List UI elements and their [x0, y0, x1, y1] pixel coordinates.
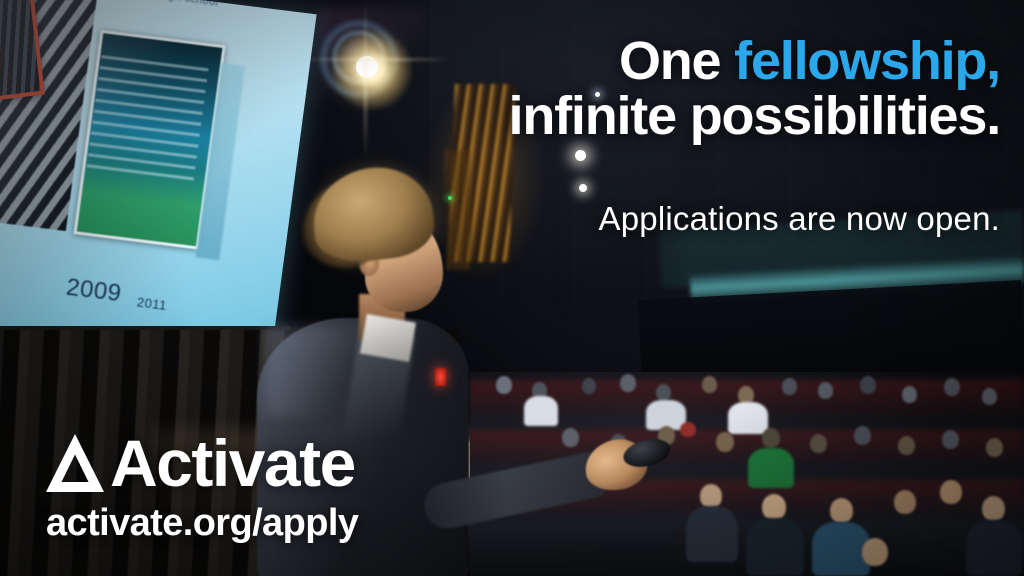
balcony-underside	[638, 280, 1024, 410]
audience	[470, 372, 1024, 576]
apply-url[interactable]: activate.org/apply	[46, 502, 358, 545]
screen-sheen	[0, 0, 317, 361]
activate-logo[interactable]: Activate	[44, 432, 355, 494]
headline-accent-text: fellowship,	[734, 31, 1000, 91]
stage-front-shadow	[297, 495, 722, 576]
lens-flare-streak	[316, 8, 426, 128]
stage-floor	[365, 428, 805, 576]
slide-photo-solar-panel-inset	[0, 0, 45, 113]
speaker-ear	[359, 250, 379, 276]
stage-floor-lip	[367, 470, 810, 576]
curtain-header	[0, 326, 290, 356]
lens-flare-ray-vertical	[364, 0, 367, 160]
promo-banner: since high school 2005 2009 2011	[0, 0, 1024, 576]
slide-surface	[0, 0, 317, 361]
slide-year-2011: 2011	[136, 294, 168, 313]
slide-year-2009: 2009	[64, 274, 123, 309]
slide-photo-solar-panel	[0, 0, 99, 231]
screen-bottom-edge	[0, 307, 270, 377]
spotlight-core	[356, 56, 378, 78]
stage-light-a	[575, 150, 586, 161]
teal-balcony-light	[690, 255, 1024, 304]
subheadline: Applications are now open.	[440, 200, 1000, 238]
lens-flare-ray-horizontal	[300, 58, 450, 61]
speaker-shirt-collar	[360, 314, 416, 362]
slide-photo-electronics-rack	[73, 30, 225, 250]
lens-flare-ring-inner	[332, 30, 386, 84]
speaker-face	[365, 216, 443, 312]
headline: One fellowship, infinite possibilities.	[480, 34, 1000, 144]
speaker-neck	[359, 294, 405, 340]
speaker-shoulder-highlight	[265, 326, 375, 416]
stage-spotlight	[330, 28, 414, 112]
presentation-remote-icon	[621, 435, 674, 472]
slide-photo-rack-detail	[86, 48, 209, 180]
speaker-hair	[309, 162, 438, 266]
projection-screen: since high school 2005 2009 2011	[0, 0, 317, 391]
slide-top-text: since high school	[127, 0, 219, 9]
speaker-hair-back	[303, 182, 383, 268]
headline-line1-text: One	[619, 31, 734, 91]
speaker-hand	[581, 435, 651, 495]
headline-line2-text: infinite possibilities.	[480, 89, 1000, 144]
red-indicator-light	[435, 368, 446, 386]
stage-light-b	[579, 184, 587, 192]
lens-flare-ring-outer	[320, 20, 398, 98]
speaker-arm	[420, 449, 611, 533]
activate-wordmark: Activate	[110, 432, 355, 494]
activate-triangle-a-icon	[44, 432, 106, 494]
slide-photo-third-panel	[195, 63, 245, 260]
